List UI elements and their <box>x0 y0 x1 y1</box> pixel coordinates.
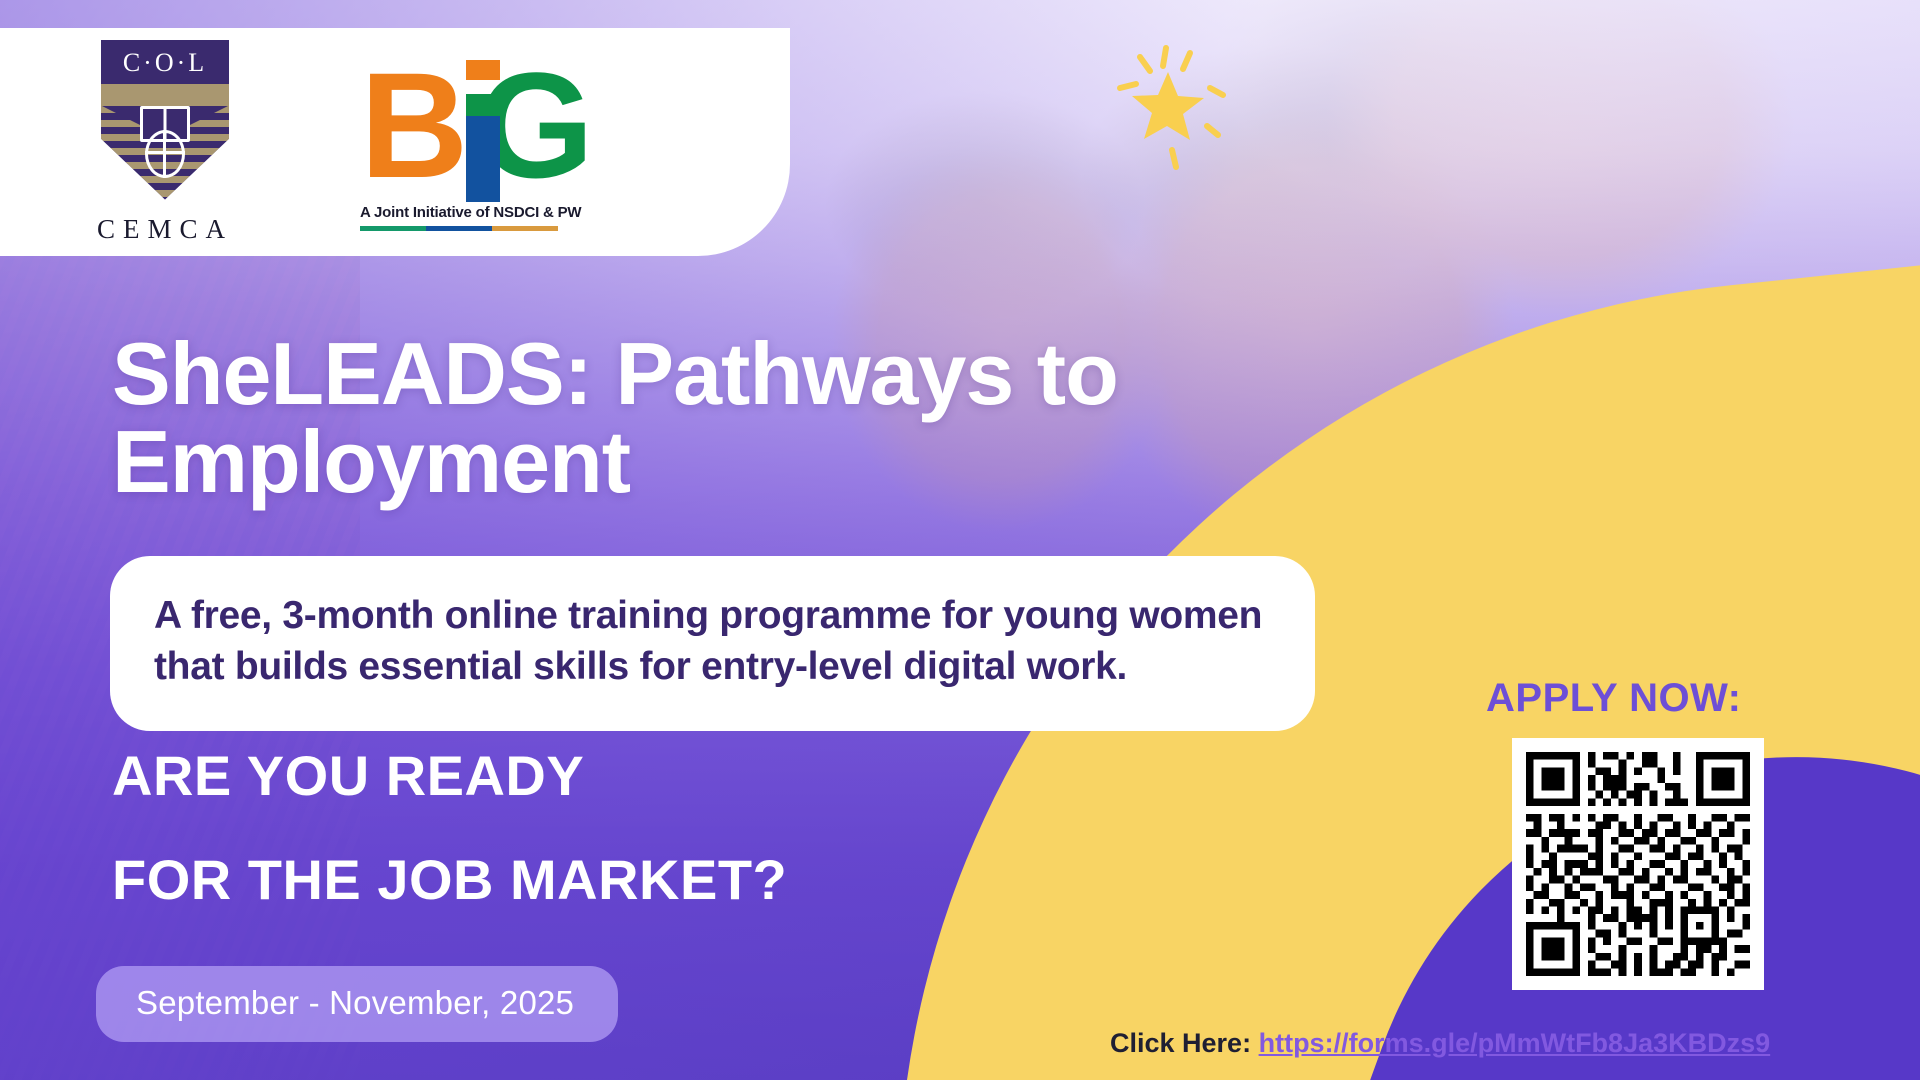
click-here-label: Click Here: <box>1110 1028 1251 1058</box>
title-line-2: Employment <box>112 412 630 511</box>
big-i-dot <box>466 60 500 80</box>
apply-now-label: APPLY NOW: <box>1486 676 1741 721</box>
big-i-blue-segment <box>466 116 500 202</box>
qr-code[interactable] <box>1512 738 1764 990</box>
page-title: SheLEADS: Pathways to Employment <box>112 330 1292 506</box>
application-form-link[interactable]: https://forms.gle/pMmWtFb8Ja3KBDzs9 <box>1259 1028 1771 1058</box>
globe-icon <box>145 130 185 178</box>
big-wordmark: B G <box>360 54 590 202</box>
subheadline: ARE YOU READY FOR THE JOB MARKET? <box>112 748 1112 908</box>
description-line-1: A free, 3-month online training programm… <box>154 590 1271 641</box>
star-doodle-icon <box>1110 40 1230 170</box>
cemca-label: CEMCA <box>90 214 240 245</box>
tricolor-rule <box>360 226 558 231</box>
description-line-2: that builds essential skills for entry-l… <box>154 641 1271 692</box>
logo-bar: C·O·L CEMCA B G A Joint Initiative of NS… <box>0 28 790 256</box>
big-tagline: A Joint Initiative of NSDCI & PW <box>360 204 590 221</box>
rule-green <box>360 226 426 231</box>
col-shield-icon: C·O·L <box>101 40 229 200</box>
big-letter-b: B <box>360 54 464 197</box>
shield-band <box>101 84 229 106</box>
poster-canvas: C·O·L CEMCA B G A Joint Initiative of NS… <box>0 0 1920 1080</box>
col-acronym: C·O·L <box>101 48 229 78</box>
subheadline-line-2: FOR THE JOB MARKET? <box>112 852 1112 908</box>
description-card: A free, 3-month online training programm… <box>110 556 1315 731</box>
big-letter-i <box>466 54 475 202</box>
subheadline-line-1: ARE YOU READY <box>112 744 584 807</box>
rule-blue <box>426 226 492 231</box>
big-i-green-segment <box>466 94 500 116</box>
apply-link-row: Click Here: https://forms.gle/pMmWtFb8Ja… <box>1110 1028 1770 1059</box>
date-badge: September - November, 2025 <box>96 966 618 1042</box>
big-logo: B G A Joint Initiative of NSDCI & PW <box>360 54 590 231</box>
col-cemca-logo: C·O·L CEMCA <box>90 40 240 245</box>
rule-orange <box>492 226 558 231</box>
title-line-1: SheLEADS: Pathways to <box>112 324 1118 423</box>
